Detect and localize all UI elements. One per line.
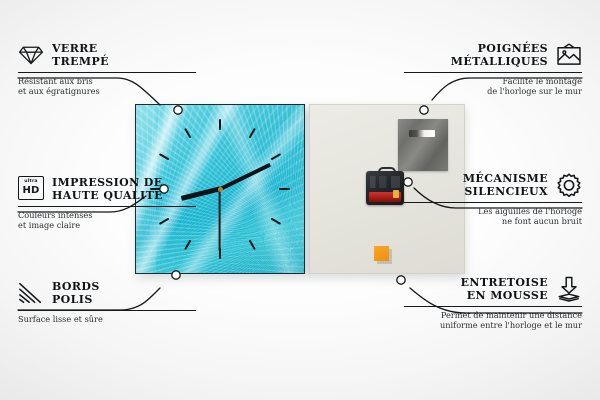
foam-spacer-part	[374, 246, 389, 261]
clock-mechanism-part	[366, 167, 404, 205]
clock-center-cap	[218, 187, 223, 192]
feature-title: IMPRESSION DE HAUTE QUALITÉ	[52, 176, 163, 202]
feature-divider	[404, 306, 582, 307]
clock-tick	[249, 128, 256, 139]
feature-divider	[18, 310, 196, 311]
feature-verre-trempe: VERRE TREMPÉ Résistant aux bris et aux é…	[18, 42, 196, 96]
infographic-canvas: VERRE TREMPÉ Résistant aux bris et aux é…	[0, 0, 600, 400]
feature-divider	[404, 202, 582, 203]
clock-tick	[219, 119, 221, 130]
feature-mecanisme-silencieux: MÉCANISME SILENCIEUX Les aiguilles de l'…	[404, 172, 582, 226]
clock-second-hand	[219, 189, 221, 251]
feature-title: MÉCANISME SILENCIEUX	[463, 172, 548, 198]
clock-tick	[184, 240, 191, 251]
feature-entretoise-en-mousse: ENTRETOISE EN MOUSSE Permet de maintenir…	[404, 276, 582, 330]
clock-tick	[271, 218, 282, 225]
metal-hanger-part	[398, 119, 448, 171]
diamond-icon	[18, 42, 44, 68]
ultra-hd-icon: ultra HD	[18, 176, 44, 202]
feature-impression-haute-qualite: ultra HD IMPRESSION DE HAUTE QUALITÉ Cou…	[18, 176, 196, 230]
feature-poignees-metalliques: POIGNÉES MÉTALLIQUES Facilite le montage…	[404, 42, 582, 96]
mechanism-body	[366, 171, 404, 205]
mechanism-gear-plate	[370, 176, 400, 188]
feature-heading-row: ultra HD IMPRESSION DE HAUTE QUALITÉ	[18, 176, 196, 202]
picture-frame-icon	[556, 42, 582, 68]
feature-divider	[18, 72, 196, 73]
arrow-down-layers-icon	[556, 276, 582, 302]
ultra-hd-badge: ultra HD	[18, 176, 44, 200]
feature-title: POIGNÉES MÉTALLIQUES	[451, 42, 548, 68]
clock-tick	[184, 128, 191, 139]
feature-title: ENTRETOISE EN MOUSSE	[461, 276, 548, 302]
feature-subtitle: Facilite le montage de l'horloge sur le …	[404, 76, 582, 96]
battery-part	[369, 192, 401, 202]
feature-bords-polis: BORDS POLIS Surface lisse et sûre	[18, 280, 196, 324]
feature-divider	[404, 72, 582, 73]
clock-minute-hand	[219, 163, 271, 191]
battery-positive-terminal	[393, 190, 399, 198]
clock-tick	[249, 240, 256, 251]
polished-edge-icon	[18, 280, 44, 306]
feature-subtitle: Les aiguilles de l'horloge ne font aucun…	[404, 206, 582, 226]
feature-heading-row: VERRE TREMPÉ	[18, 42, 196, 68]
hanger-slot	[409, 130, 435, 137]
feature-heading-row: MÉCANISME SILENCIEUX	[404, 172, 582, 198]
feature-subtitle: Couleurs intenses et image claire	[18, 210, 196, 230]
feature-subtitle: Surface lisse et sûre	[18, 314, 196, 324]
feature-subtitle: Résistant aux bris et aux égratignures	[18, 76, 196, 96]
feature-subtitle: Permet de maintenir une distance uniform…	[404, 310, 582, 330]
feature-heading-row: BORDS POLIS	[18, 280, 196, 306]
gear-icon	[556, 172, 582, 198]
ultra-hd-big-label: HD	[22, 186, 39, 196]
clock-tick	[271, 153, 282, 160]
clock-tick	[159, 153, 170, 160]
feature-title: BORDS POLIS	[52, 280, 100, 306]
feature-heading-row: POIGNÉES MÉTALLIQUES	[404, 42, 582, 68]
feature-title: VERRE TREMPÉ	[52, 42, 109, 68]
feature-divider	[18, 206, 196, 207]
feature-heading-row: ENTRETOISE EN MOUSSE	[404, 276, 582, 302]
clock-tick	[279, 188, 290, 190]
